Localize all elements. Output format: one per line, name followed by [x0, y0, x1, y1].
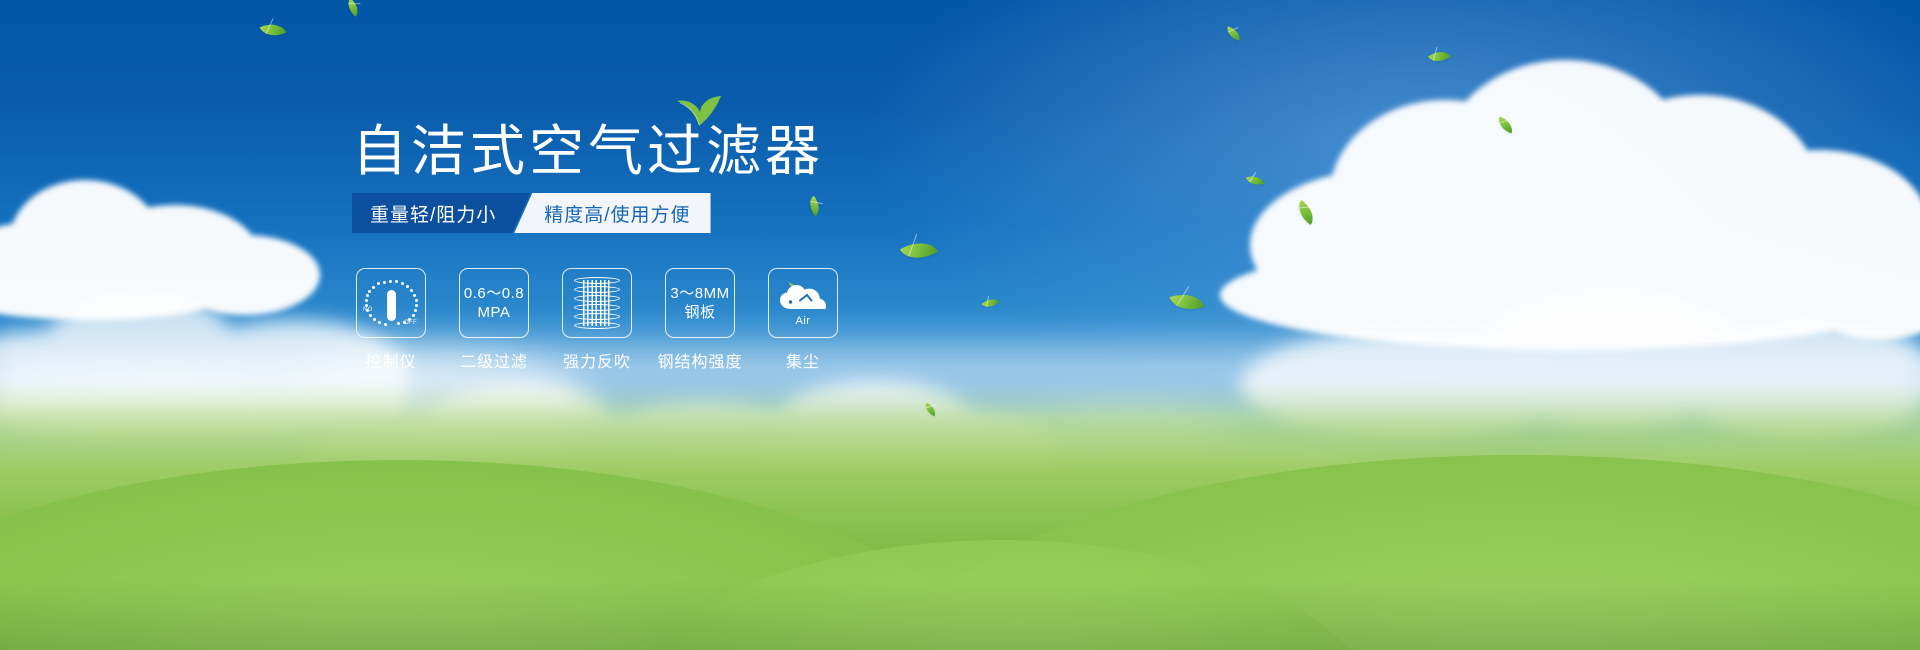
steel-thickness-text: 3～8MM 钢板 — [670, 284, 729, 322]
feature-icon-box — [562, 268, 632, 338]
feature-item-dust-collection[interactable]: Air 集尘 — [768, 268, 838, 372]
feature-caption: 集尘 — [786, 348, 820, 372]
feature-caption: 钢结构强度 — [658, 348, 743, 372]
page-title: 自洁式空气过滤器 — [352, 119, 824, 183]
gauge-label-off: OFF — [404, 320, 417, 326]
feature-caption: 二级过滤 — [460, 348, 528, 372]
feature-item-strong-backblow[interactable]: 强力反吹 — [562, 268, 632, 372]
badge-bar: 重量轻/阻力小 精度高/使用方便 — [352, 193, 711, 233]
hero-banner: 自洁式空气过滤器 重量轻/阻力小 精度高/使用方便 NO OFF — [0, 0, 1920, 650]
feature-caption: 强力反吹 — [563, 348, 631, 372]
feature-icon-box: Air — [768, 268, 838, 338]
feature-icon-box: NO OFF — [356, 268, 426, 338]
feature-caption: 控制仪 — [365, 348, 416, 372]
filter-discs-icon — [574, 277, 620, 329]
feature-icon-box: 0.6～0.8 MPA — [459, 268, 529, 338]
air-cloud-icon: Air — [774, 278, 832, 328]
banner-content: 自洁式空气过滤器 重量轻/阻力小 精度高/使用方便 NO OFF — [0, 0, 1920, 650]
feature-item-steel-structure-strength[interactable]: 3～8MM 钢板 钢结构强度 — [665, 268, 735, 372]
feature-icon-box: 3～8MM 钢板 — [665, 268, 735, 338]
air-label: Air — [796, 315, 811, 327]
badge-high-precision-easy-use[interactable]: 精度高/使用方便 — [514, 193, 710, 233]
gauge-icon: NO OFF — [363, 277, 419, 329]
feature-item-two-stage-filtration[interactable]: 0.6～0.8 MPA 二级过滤 — [459, 268, 529, 372]
pressure-range-text: 0.6～0.8 MPA — [464, 284, 524, 322]
badge-light-weight-low-resistance[interactable]: 重量轻/阻力小 — [352, 193, 530, 233]
feature-item-control-instrument[interactable]: NO OFF — [356, 268, 426, 372]
feature-icon-row: NO OFF — [356, 268, 838, 372]
